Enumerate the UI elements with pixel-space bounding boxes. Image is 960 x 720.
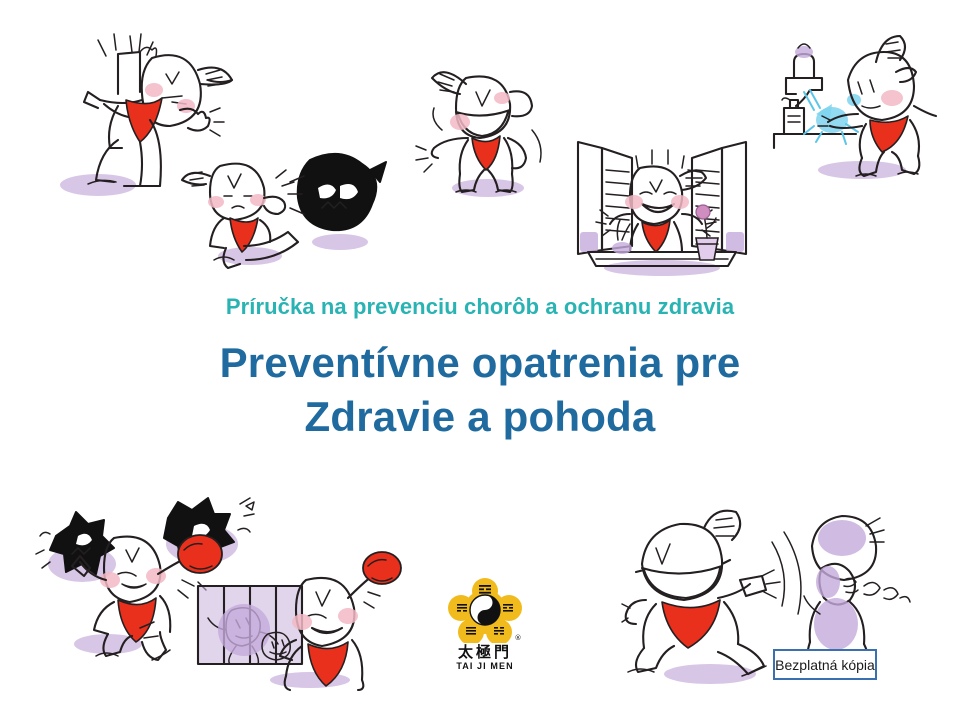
free-copy-label: Bezplatná kópia [775,657,875,673]
title-line-2: Zdravie a pohoda [0,390,960,444]
page-title: Preventívne opatrenia pre Zdravie a poho… [0,336,960,444]
illustration-open-window-ventilation [572,128,752,278]
illustration-quarantine-behind-bars [192,548,402,690]
slide-canvas: Príručka na prevenciu chorôb a ochranu z… [0,0,960,720]
yin-yang-bagua-icon: ® [448,577,522,643]
title-block: Príručka na prevenciu chorôb a ochranu z… [0,292,960,444]
free-copy-watermark: Bezplatná kópia [773,649,877,680]
title-line-1: Preventívne opatrenia pre [0,336,960,390]
tai-ji-men-logo: ® 太極門 TAI JI MEN [437,577,533,677]
illustration-wash-your-hands [770,28,950,183]
logo-romanized-text: TAI JI MEN [456,661,513,672]
illustration-kick-the-germ [172,142,387,270]
subtitle: Príručka na prevenciu chorôb a ochranu z… [0,292,960,322]
logo-cjk-text: 太極門 [458,644,512,661]
illustration-wear-a-mask-exercise [412,52,562,202]
registered-mark: ® [515,634,522,642]
